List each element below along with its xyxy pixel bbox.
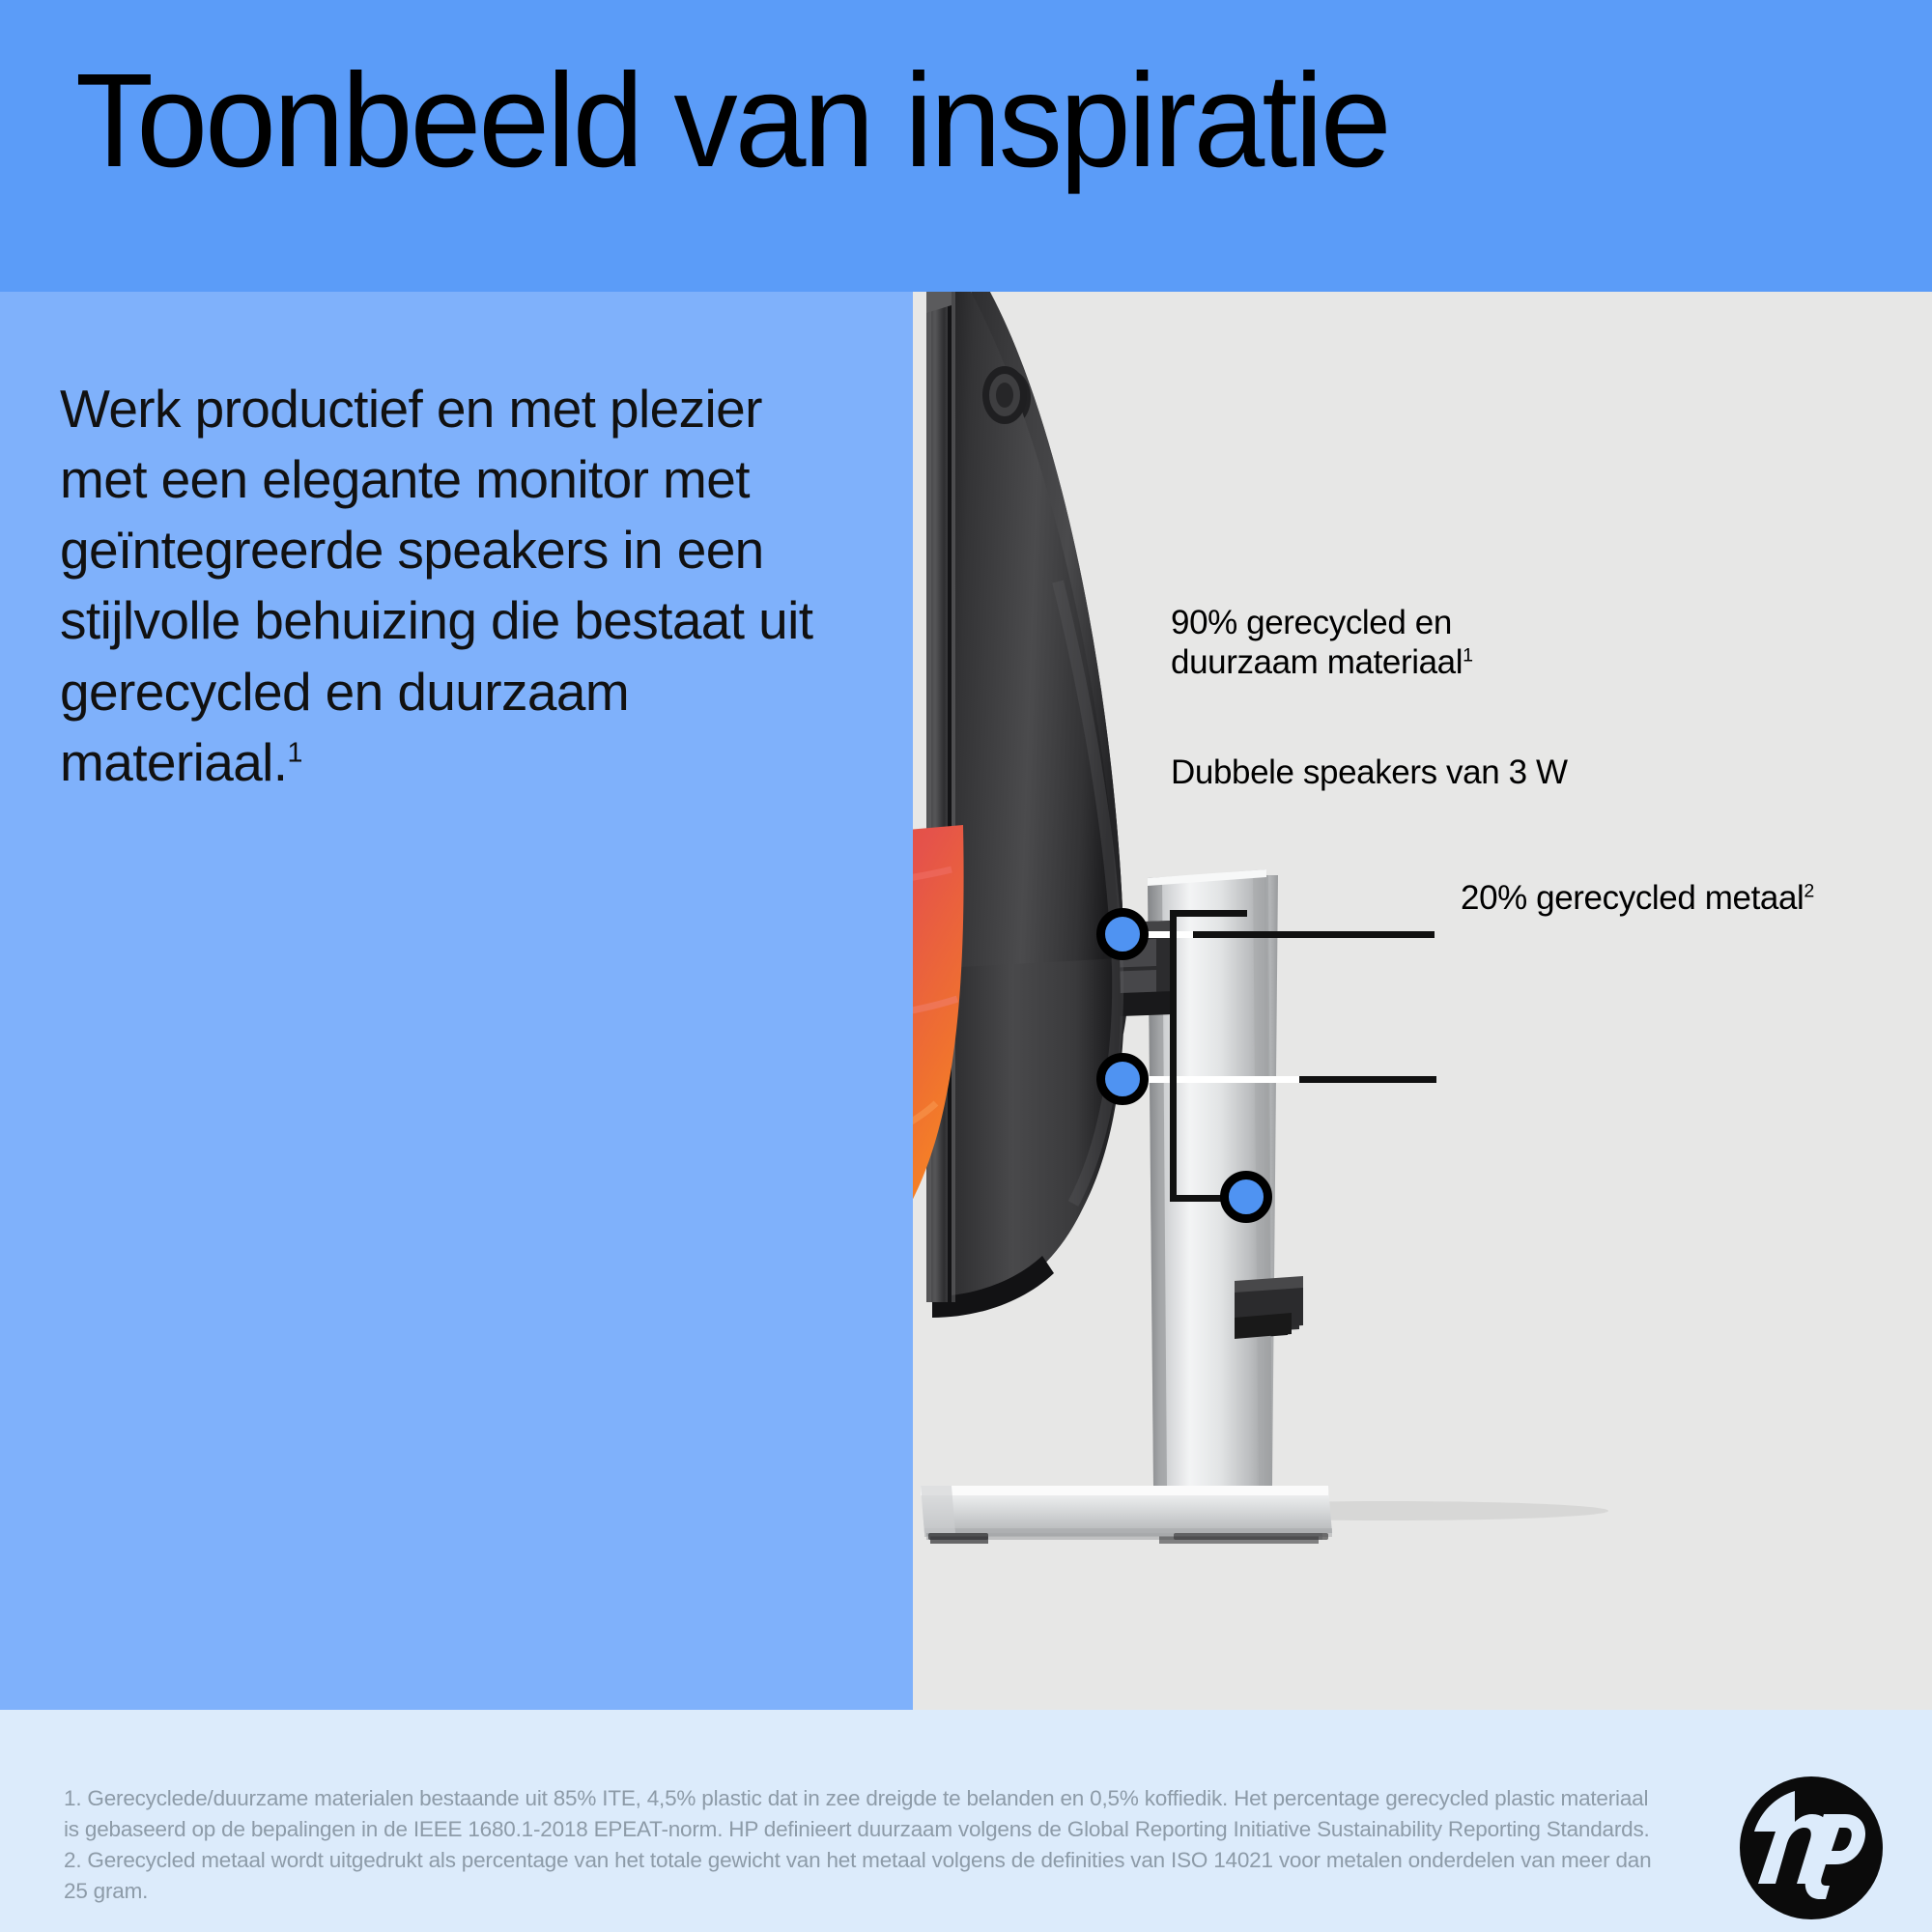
- callout-2-line-1: Dubbele speakers van 3 W: [1171, 753, 1568, 793]
- body-copy-footnote-marker: 1: [288, 737, 302, 768]
- callout-3-footnote-marker: 2: [1804, 880, 1814, 901]
- infographic-page: Toonbeeld van inspiratie Werk productief…: [0, 0, 1932, 1932]
- monitor-screen-panel: [913, 825, 964, 1304]
- callout-2-leader: [1299, 1076, 1436, 1083]
- hp-logo: [1739, 1776, 1884, 1920]
- footer-band: 1. Gerecyclede/duurzame materialen besta…: [0, 1710, 1932, 1932]
- callout-1-line-1: 90% gerecycled en: [1171, 604, 1473, 643]
- footnote-2: 2. Gerecycled metaal wordt uitgedrukt al…: [64, 1845, 1667, 1907]
- callout-3-line-1-wrap: 20% gerecycled metaal2: [1461, 879, 1814, 919]
- callout-1-dot[interactable]: [1096, 908, 1149, 960]
- callout-1-footnote-marker: 1: [1463, 644, 1473, 666]
- body-copy-text: Werk productief en met plezier met een e…: [60, 379, 812, 792]
- callout-3-dot[interactable]: [1220, 1171, 1272, 1223]
- page-title: Toonbeeld van inspiratie: [75, 54, 1389, 187]
- header-band: Toonbeeld van inspiratie: [0, 0, 1932, 292]
- callout-1-line-2-wrap: duurzaam materiaal1: [1171, 643, 1473, 683]
- footnotes: 1. Gerecyclede/duurzame materialen besta…: [64, 1783, 1667, 1907]
- callout-1-leader: [1193, 931, 1435, 938]
- left-text-panel: Werk productief en met plezier met een e…: [0, 292, 913, 1710]
- monitor-composition: [913, 292, 1932, 1710]
- callout-2-dot[interactable]: [1096, 1053, 1149, 1105]
- callout-3-line-1: 20% gerecycled metaal: [1461, 879, 1804, 917]
- callout-1-line-2: duurzaam materiaal: [1171, 643, 1463, 681]
- callout-label-recycled-material: 90% gerecycled en duurzaam materiaal1: [1171, 604, 1473, 682]
- footnote-1: 1. Gerecyclede/duurzame materialen besta…: [64, 1783, 1667, 1845]
- callout-3-leader-top: [1170, 910, 1247, 917]
- callout-3-leader-vertical: [1170, 910, 1177, 1202]
- callout-label-dual-speakers: Dubbele speakers van 3 W: [1171, 753, 1568, 793]
- right-product-panel: [913, 292, 1932, 1710]
- callout-label-recycled-metal: 20% gerecycled metaal2: [1461, 879, 1814, 919]
- body-copy: Werk productief en met plezier met een e…: [60, 374, 862, 798]
